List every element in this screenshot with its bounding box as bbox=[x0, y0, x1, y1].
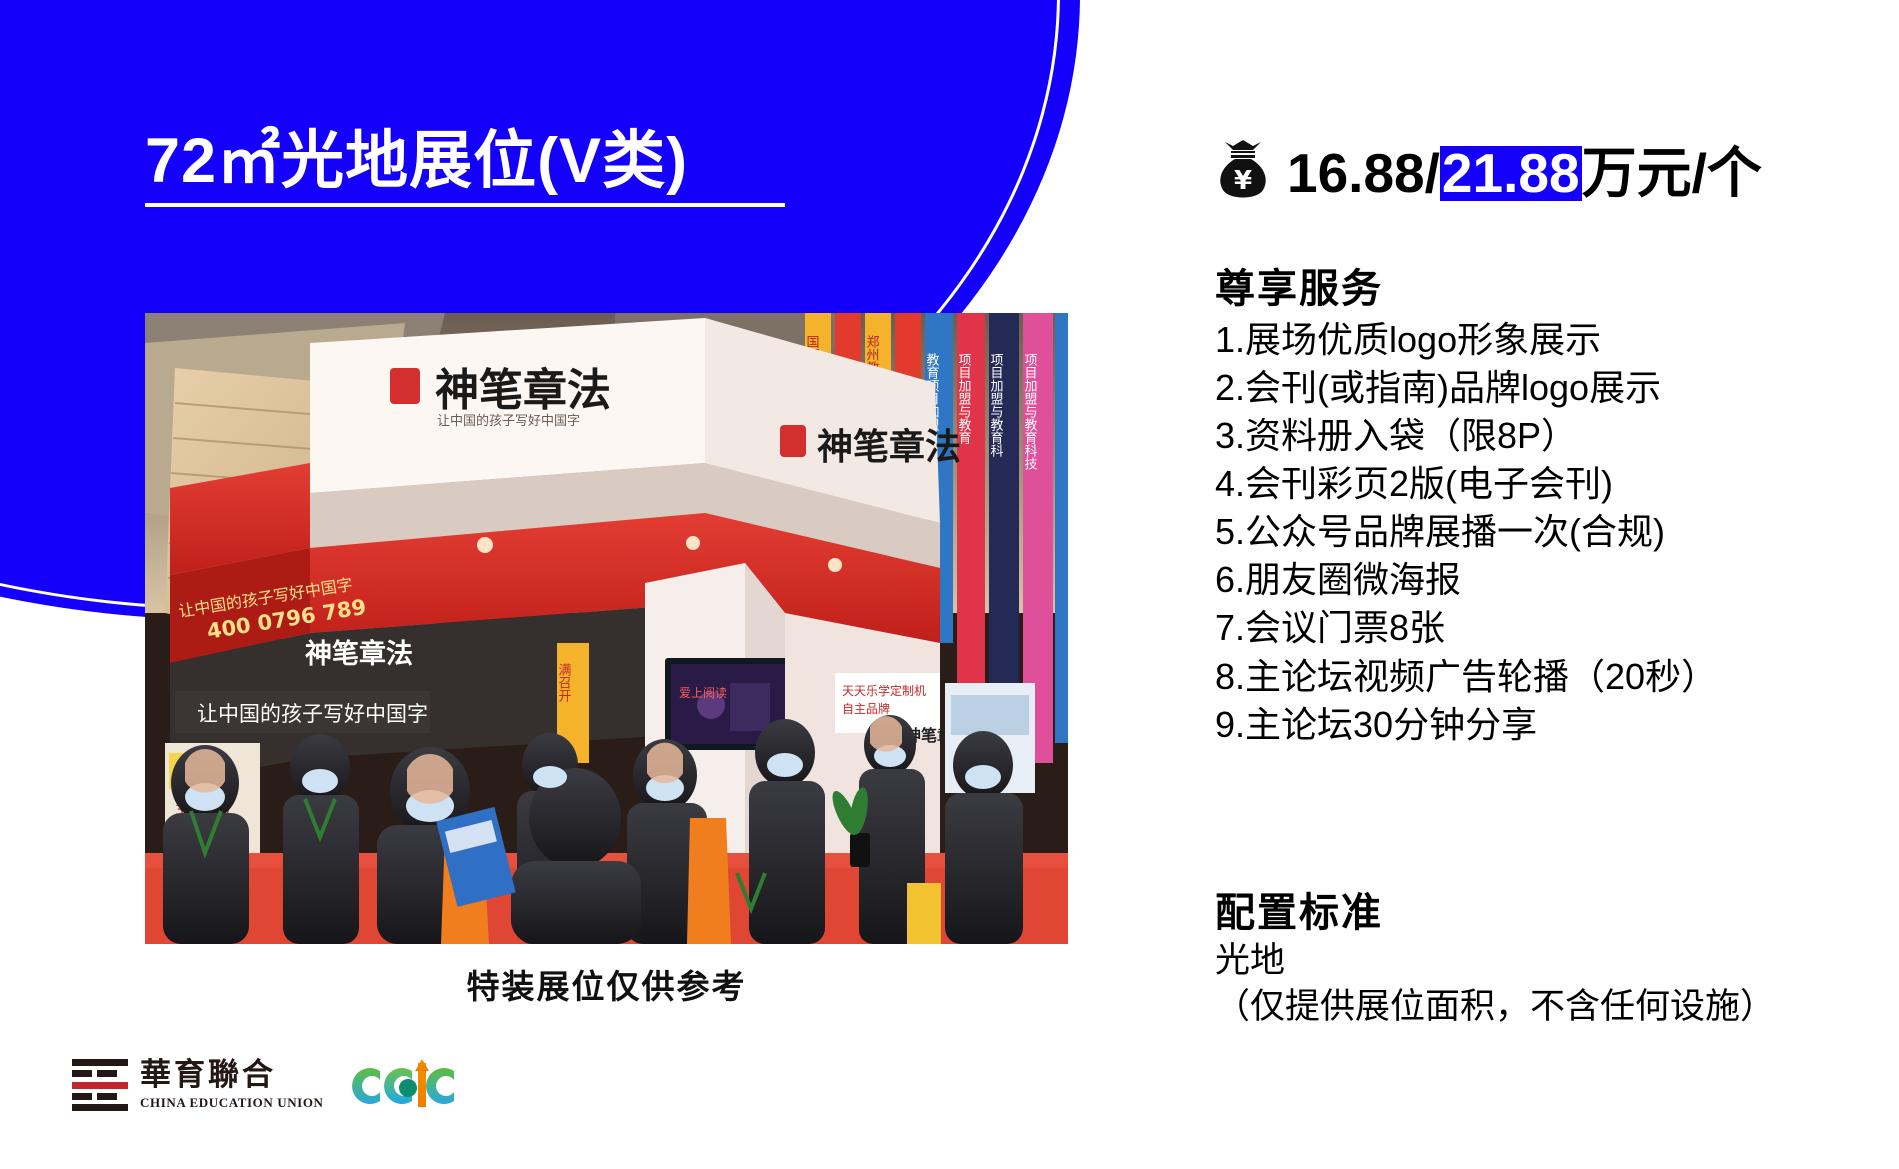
page-title: 72㎡光地展位(V类) bbox=[145, 128, 785, 194]
cetc-logo-icon bbox=[350, 1057, 462, 1113]
config-body: 光地 （仅提供展位面积，不含任何设施） bbox=[1215, 938, 1775, 1029]
config-section-title: 配置标准 bbox=[1215, 880, 1383, 938]
china-education-union-logo: 華育聯合 CHINA EDUCATION UNION bbox=[72, 1059, 324, 1111]
list-item: 5.公众号品牌展播一次(合规) bbox=[1215, 508, 1717, 556]
photo-caption: 特装展位仅供参考 bbox=[145, 960, 1068, 1008]
services-section-title: 尊享服务 bbox=[1215, 256, 1383, 314]
price-base: 16.88 bbox=[1287, 146, 1425, 201]
svg-text:¥: ¥ bbox=[1234, 166, 1252, 196]
price-row: ¥ 16.88/21.88万元/个 bbox=[1215, 140, 1762, 207]
svg-text:天天乐学定制机: 天天乐学定制机 bbox=[842, 683, 926, 698]
list-item: 2.会刊(或指南)品牌logo展示 bbox=[1215, 364, 1717, 412]
list-item: 1.展场优质logo形象展示 bbox=[1215, 316, 1717, 364]
ceu-chinese-name: 華育聯合 bbox=[140, 1059, 324, 1092]
list-item-highlighted: 9.主论坛30分钟分享 bbox=[1215, 704, 1537, 745]
list-item: 7.会议门票8张 bbox=[1215, 604, 1717, 652]
svg-text:满召开: 满召开 bbox=[556, 663, 572, 702]
trigram-mark-icon bbox=[72, 1059, 128, 1111]
title-block: 72㎡光地展位(V类) bbox=[145, 128, 785, 207]
svg-text:让中国的孩子写好中国字: 让中国的孩子写好中国字 bbox=[437, 413, 580, 429]
list-item: 8.主论坛视频广告轮播（20秒） bbox=[1215, 653, 1717, 701]
price-highlight: 21.88 bbox=[1440, 146, 1582, 201]
list-item: 6.朋友圈微海报 bbox=[1215, 556, 1717, 604]
svg-text:自主品牌: 自主品牌 bbox=[842, 702, 890, 716]
title-underline bbox=[145, 203, 785, 207]
price-suffix: 万元/个 bbox=[1582, 146, 1762, 201]
svg-text:爱上阅读: 爱上阅读 bbox=[679, 686, 727, 700]
price-separator: / bbox=[1425, 146, 1440, 201]
svg-text:神笔章法: 神笔章法 bbox=[817, 426, 961, 468]
slide-canvas: 72㎡光地展位(V类) bbox=[0, 0, 1899, 1169]
money-bag-icon: ¥ bbox=[1215, 140, 1271, 207]
details-column: ¥ 16.88/21.88万元/个 尊享服务 1.展场优质logo形象展示 2.… bbox=[1215, 0, 1895, 1169]
booth-photo: 教育项目加盟 项目加盟与教育 项目加盟与教育科 项目加盟与教育科技 国郑州 郑州… bbox=[145, 313, 1068, 944]
list-item: 4.会刊彩页2版(电子会刊) bbox=[1215, 460, 1717, 508]
svg-text:项目加盟与教育科: 项目加盟与教育科 bbox=[988, 353, 1004, 457]
svg-text:神笔章法: 神笔章法 bbox=[305, 638, 413, 670]
config-line-2: （仅提供展位面积，不含任何设施） bbox=[1215, 984, 1775, 1030]
footer-logo-bar: 華育聯合 CHINA EDUCATION UNION bbox=[72, 1057, 462, 1113]
services-list: 1.展场优质logo形象展示 2.会刊(或指南)品牌logo展示 3.资料册入袋… bbox=[1215, 316, 1717, 749]
svg-text:让中国的孩子写好中国字: 让中国的孩子写好中国字 bbox=[197, 702, 428, 726]
price-text: 16.88/21.88万元/个 bbox=[1287, 146, 1762, 201]
list-item: 3.资料册入袋（限8P） bbox=[1215, 412, 1717, 460]
cetc-logo bbox=[350, 1057, 462, 1113]
booth-photo-illustration: 教育项目加盟 项目加盟与教育 项目加盟与教育科 项目加盟与教育科技 国郑州 郑州… bbox=[145, 313, 1068, 944]
ceu-english-name: CHINA EDUCATION UNION bbox=[140, 1095, 324, 1111]
svg-text:项目加盟与教育科技: 项目加盟与教育科技 bbox=[1022, 353, 1038, 470]
svg-text:神笔章法: 神笔章法 bbox=[435, 365, 611, 416]
config-line-1: 光地 bbox=[1215, 938, 1775, 984]
